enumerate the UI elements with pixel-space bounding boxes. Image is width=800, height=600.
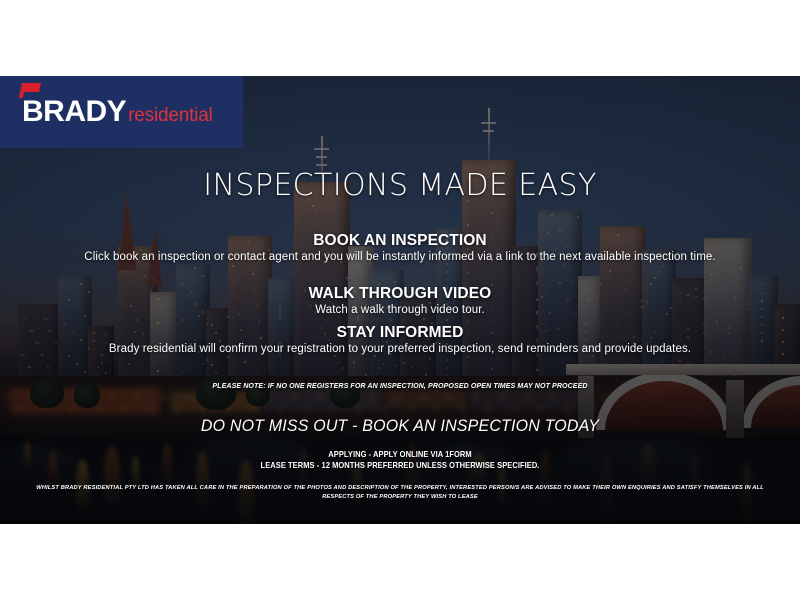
section-heading-book-an-inspection: BOOK AN INSPECTION xyxy=(0,232,800,250)
lease-terms-text: LEASE TERMS - 12 MONTHS PREFERRED UNLESS… xyxy=(32,461,768,470)
section-heading-walk-through-video: WALK THROUGH VIDEO xyxy=(0,285,800,303)
section-body-book-an-inspection: Click book an inspection or contact agen… xyxy=(0,250,800,265)
applying-info-text: APPLYING - APPLY ONLINE VIA 1FORM xyxy=(32,450,768,459)
page-title: INSPECTIONS MADE EASY xyxy=(0,168,800,203)
section-body-walk-through-video: Watch a walk through video tour. xyxy=(0,303,800,318)
section-body-stay-informed: Brady residential will confirm your regi… xyxy=(0,342,800,357)
logo-primary-text: BRADY xyxy=(22,95,126,128)
call-to-action-text: DO NOT MISS OUT - BOOK AN INSPECTION TOD… xyxy=(24,416,776,436)
logo-secondary-text: residential xyxy=(128,105,212,126)
brady-flag-icon xyxy=(20,83,41,92)
legal-disclaimer-text: WHILST BRADY RESIDENTIAL PTY LTD HAS TAK… xyxy=(12,484,788,502)
brand-logo[interactable]: BRADYresidential xyxy=(0,76,243,148)
section-heading-stay-informed: STAY INFORMED xyxy=(0,324,800,342)
hero-banner: BRADYresidential INSPECTIONS MADE EASY B… xyxy=(0,76,800,524)
please-note-text: PLEASE NOTE: IF NO ONE REGISTERS FOR AN … xyxy=(28,381,772,390)
logo-lockup: BRADYresidential xyxy=(0,97,213,127)
